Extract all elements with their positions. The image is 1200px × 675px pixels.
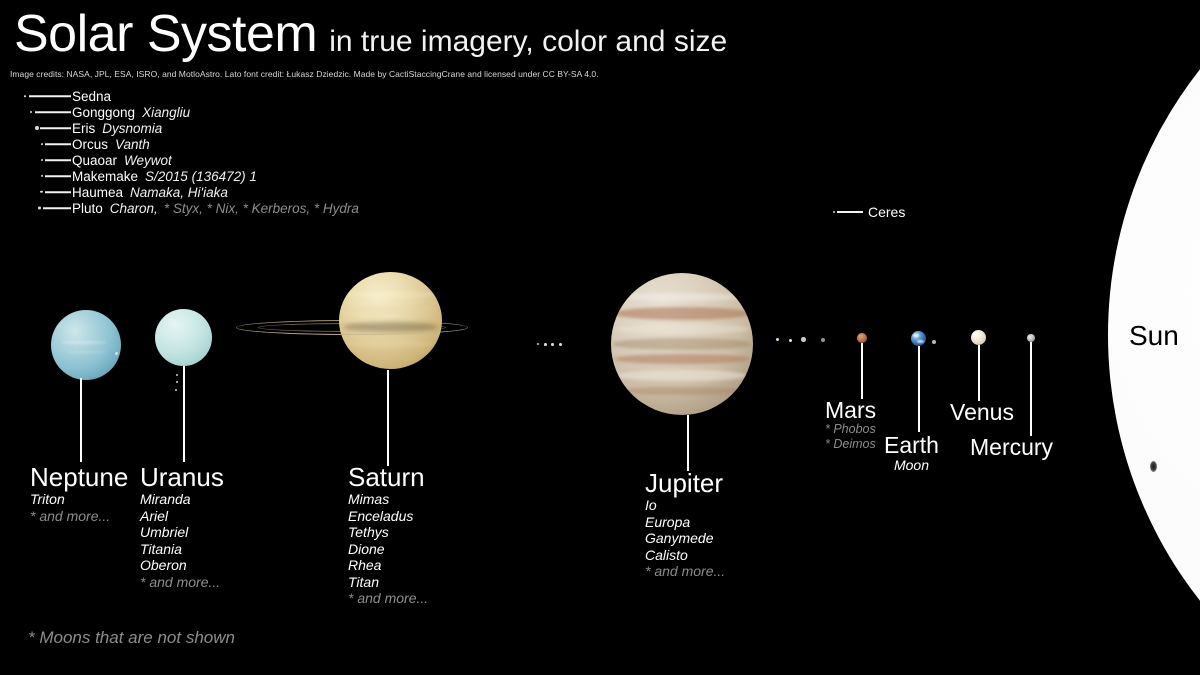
calisto-moon (821, 338, 825, 342)
dwarf-name: Pluto (72, 201, 103, 216)
neptune-planet (51, 310, 121, 380)
leader-line (45, 159, 71, 161)
neptune-more-moons: * and more... (30, 508, 128, 525)
ceres-group: Ceres (833, 204, 905, 220)
moon-name: Triton (30, 491, 128, 508)
mars-leader-line (861, 343, 863, 399)
list-item-label: QuaoarWeywot (72, 153, 172, 168)
list-item-label: Sedna (72, 89, 111, 104)
uranus-leader-line (183, 366, 185, 462)
jupiter-band (614, 324, 750, 334)
leader-line (29, 95, 71, 97)
earth-leader-line (918, 346, 920, 432)
ceres-dot (833, 211, 835, 213)
neptune-band (66, 351, 105, 354)
moon-name: Io (645, 497, 725, 514)
ganymede-moon (801, 337, 806, 342)
jupiter-name: Jupiter (645, 470, 725, 497)
saturn-moon (551, 343, 554, 346)
title-main: Solar System (14, 8, 317, 60)
saturn-band (348, 340, 432, 348)
earth-cloud (913, 334, 920, 337)
dwarf-name: Orcus (72, 137, 108, 152)
saturn-moon (537, 343, 539, 345)
dwarf-dot (24, 95, 26, 97)
saturn-more-moons: * and more... (348, 590, 428, 607)
jupiter-label-block: Jupiter Io Europa Ganymede Calisto * and… (645, 470, 725, 580)
dwarf-name: Sedna (72, 89, 111, 104)
moon-name: Miranda (140, 491, 224, 508)
credits-line: Image credits: NASA, JPL, ESA, ISRO, and… (10, 69, 599, 79)
jupiter-band (622, 387, 741, 396)
venus-label-block: Venus (950, 400, 1014, 424)
neptune-name: Neptune (30, 464, 128, 491)
dwarf-dot (38, 207, 41, 210)
moon-name: Titan (348, 574, 428, 591)
list-item-label: PlutoCharon,* Styx, * Nix, * Kerberos, *… (72, 201, 359, 216)
venus-leader-line (978, 345, 980, 401)
jupiter-band (617, 370, 748, 381)
mars-hidden-moon: * Phobos (825, 422, 876, 437)
sunspot (1150, 461, 1157, 472)
list-item-label: GonggongXiangliu (72, 105, 190, 120)
moon-name: Mimas (348, 491, 428, 508)
dwarf-name: Haumea (72, 185, 123, 200)
list-item-label: HaumeaNamaka, Hi'iaka (72, 185, 228, 200)
mercury-planet (1027, 334, 1035, 342)
moon-name: Rhea (348, 557, 428, 574)
moon-name: Calisto (645, 547, 725, 564)
mercury-leader-line (1030, 342, 1032, 436)
dwarf-moons: Dysnomia (102, 121, 162, 136)
jupiter-band (612, 338, 751, 349)
moon-name: Dione (348, 541, 428, 558)
leader-line (45, 143, 71, 145)
earth-name: Earth (884, 433, 939, 457)
footnote: * Moons that are not shown (28, 628, 235, 648)
venus-name: Venus (950, 400, 1014, 424)
jupiter-planet (611, 273, 753, 415)
dwarf-dot (30, 111, 32, 113)
leader-line (35, 111, 71, 113)
uranus-more-moons: * and more... (140, 574, 224, 591)
leader-line (40, 127, 71, 129)
ceres-label: Ceres (868, 204, 905, 220)
dwarf-dot (35, 126, 39, 130)
mars-label-block: Mars * Phobos * Deimos (825, 398, 876, 452)
list-item-label: ErisDysnomia (72, 121, 162, 136)
moon-name: Tethys (348, 524, 428, 541)
dwarf-hidden-moons: * Styx, * Nix, * Kerberos, * Hydra (164, 201, 359, 216)
earth-planet (911, 331, 926, 346)
jupiter-band (617, 293, 748, 302)
saturn-band (344, 306, 437, 312)
dwarf-moons: Vanth (115, 137, 150, 152)
europa-moon (789, 339, 792, 342)
dwarf-name: Quaoar (72, 153, 117, 168)
moon-name: Ariel (140, 508, 224, 525)
dwarf-moons: Xiangliu (142, 105, 190, 120)
jupiter-more-moons: * and more... (645, 563, 725, 580)
dwarf-dot (41, 159, 43, 161)
neptune-label-block: Neptune Triton * and more... (30, 464, 128, 524)
uranus-moon (176, 381, 178, 383)
uranus-moon (176, 374, 178, 376)
uranus-name: Uranus (140, 464, 224, 491)
saturn-moon (544, 343, 547, 346)
dwarf-dot (40, 191, 43, 193)
saturn-band (347, 291, 434, 298)
earth-moon (932, 340, 936, 344)
jupiter-band (614, 307, 750, 320)
dwarf-moons: Charon, (110, 201, 158, 216)
dwarf-dot (41, 143, 43, 145)
leader-line (837, 211, 863, 213)
mars-hidden-moon: * Deimos (825, 437, 876, 452)
moon-name: Moon (884, 457, 939, 474)
leader-line (43, 207, 71, 209)
mars-planet (857, 333, 867, 343)
saturn-rings-front (236, 320, 468, 335)
sun-label: Sun (1129, 320, 1179, 352)
leader-line (45, 191, 71, 193)
dwarf-name: Eris (72, 121, 95, 136)
dwarf-name: Gonggong (72, 105, 135, 120)
moon-name: Titania (140, 541, 224, 558)
moon-name: Enceladus (348, 508, 428, 525)
page-title: Solar System in true imagery, color and … (14, 8, 727, 60)
dwarf-name: Makemake (72, 169, 138, 184)
dwarf-moons: Weywot (124, 153, 172, 168)
saturn-system (236, 272, 468, 397)
mars-name: Mars (825, 398, 876, 422)
venus-planet (971, 330, 986, 345)
dwarf-dot (41, 175, 43, 177)
leader-line (45, 175, 71, 177)
uranus-planet (155, 309, 212, 366)
neptune-band (61, 341, 107, 345)
infographic-canvas: Sun Solar System in true imagery, color … (0, 0, 1200, 675)
moon-name: Umbriel (140, 524, 224, 541)
title-subtitle: in true imagery, color and size (329, 27, 727, 57)
moon-name: Ganymede (645, 530, 725, 547)
dwarf-moons: S/2015 (136472) 1 (145, 169, 257, 184)
mercury-name: Mercury (970, 435, 1053, 459)
moon-name: Oberon (140, 557, 224, 574)
saturn-leader-line (387, 370, 389, 466)
list-item-label: OrcusVanth (72, 137, 150, 152)
jupiter-band (614, 354, 750, 364)
saturn-moon (559, 343, 562, 346)
uranus-label-block: Uranus Miranda Ariel Umbriel Titania Obe… (140, 464, 224, 590)
neptune-leader-line (80, 378, 82, 462)
io-moon (776, 338, 779, 341)
dwarf-moons: Namaka, Hi'iaka (130, 185, 228, 200)
earth-label-block: Earth Moon (884, 433, 939, 474)
earth-cloud (917, 340, 924, 344)
saturn-label-block: Saturn Mimas Enceladus Tethys Dione Rhea… (348, 464, 428, 607)
saturn-name: Saturn (348, 464, 428, 491)
mercury-label-block: Mercury (970, 435, 1053, 459)
titan-moon (572, 339, 580, 347)
moon-name: Europa (645, 514, 725, 531)
jupiter-leader-line (687, 415, 689, 471)
list-item-label: MakemakeS/2015 (136472) 1 (72, 169, 257, 184)
uranus-moon (175, 389, 177, 391)
